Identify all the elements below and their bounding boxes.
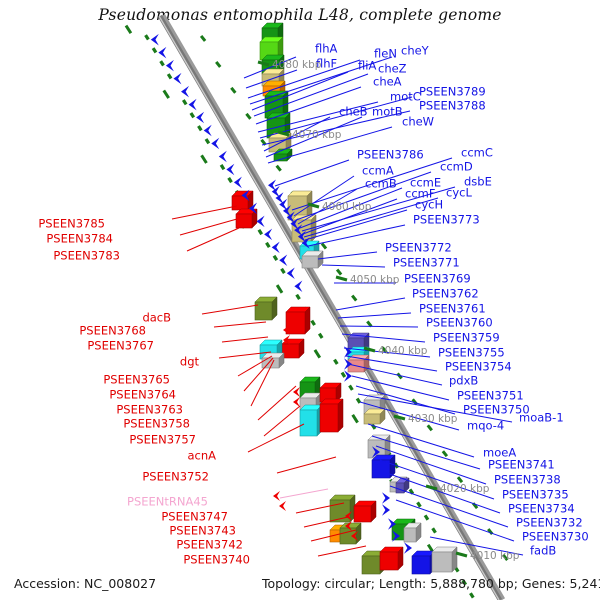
gene-arrow-blue[interactable] [151, 34, 159, 46]
gene-label[interactable]: PSEEN3730 [522, 530, 589, 544]
tickmark-dash [216, 62, 220, 67]
gene-label[interactable]: dgt [180, 355, 200, 369]
gene-arrow-red[interactable] [293, 387, 300, 397]
gene-glyph[interactable] [232, 191, 253, 210]
gene-glyph-face [354, 506, 371, 522]
gene-arrow-blue[interactable] [257, 216, 265, 228]
gene-label[interactable]: ccmA [362, 164, 394, 178]
left-label-group[interactable]: PSEEN3785PSEEN3784PSEEN3783dacBPSEEN3768… [38, 217, 250, 567]
label-leader-line [214, 322, 266, 327]
gene-label[interactable]: PSEEN3761 [419, 302, 486, 316]
gene-label[interactable]: fleN [374, 47, 397, 61]
gene-label[interactable]: PSEEN3751 [457, 389, 524, 403]
gene-glyph[interactable] [354, 501, 376, 522]
gene-arrow-blue[interactable] [158, 47, 166, 59]
tickmark-dash [277, 285, 282, 293]
gene-arrow-blue[interactable] [279, 255, 287, 267]
axis-tick-label: 4050 kbp [350, 274, 400, 286]
label-leader-line [338, 313, 411, 318]
tickmark-dash [322, 244, 326, 249]
gene-arrow-red[interactable] [293, 397, 300, 407]
gene-label[interactable]: PSEEN3743 [169, 524, 236, 538]
axis-tick-dash [456, 553, 467, 556]
tickmark-dash [337, 270, 341, 275]
label-leader-line [244, 358, 273, 391]
tickmark-dash [126, 26, 131, 34]
gene-label[interactable]: dacB [142, 311, 171, 325]
tickmark-dash [350, 386, 353, 390]
gene-label[interactable]: PSEEN3771 [393, 256, 460, 270]
gene-glyph[interactable] [404, 523, 421, 542]
gene-label[interactable]: flhA [315, 42, 338, 56]
label-leader-line [202, 305, 258, 314]
gene-label[interactable]: PSEEN3764 [109, 388, 176, 402]
gene-label[interactable]: PSEEN3788 [419, 99, 486, 113]
tickmark-dash [161, 61, 164, 65]
gene-glyph-face [380, 552, 398, 570]
gene-arrow-red[interactable] [279, 501, 286, 511]
label-leader-line [222, 337, 268, 342]
gene-label[interactable]: cheZ [378, 62, 407, 76]
gene-glyph[interactable] [302, 251, 323, 268]
tickmark-dash [183, 100, 186, 104]
gene-label[interactable]: cycL [446, 186, 472, 200]
gene-label[interactable]: PSEEN3740 [183, 553, 250, 567]
gene-label[interactable]: PSEEN3754 [445, 360, 512, 374]
tickmark-dash [458, 477, 462, 482]
genome-map-canvas[interactable]: Pseudomonas entomophila L48, complete ge… [0, 0, 600, 600]
tickmark-dash [367, 321, 371, 326]
gene-label[interactable]: PSEEN3741 [488, 458, 555, 472]
tickmark-dash [334, 360, 337, 364]
gene-arrow-blue[interactable] [204, 125, 212, 137]
gene-arrow-blue[interactable] [382, 492, 390, 504]
gene-label[interactable]: cheA [373, 75, 402, 89]
gene-label[interactable]: cheY [401, 44, 430, 58]
gene-glyph[interactable] [432, 547, 457, 572]
tickmark-dash [282, 269, 285, 273]
gene-label[interactable]: cheW [402, 115, 434, 129]
tickmark-dash [443, 451, 447, 456]
gene-label[interactable]: PSEEN3760 [426, 316, 493, 330]
gene-glyph-face [364, 414, 380, 424]
axis-tick-label: 4040 kbp [378, 345, 428, 357]
tickmark-dash [418, 502, 421, 506]
gene-arrow-blue[interactable] [166, 60, 174, 72]
gene-label[interactable]: PSEEN3783 [53, 249, 120, 263]
accession-text: Accession: NC_008027 [14, 576, 156, 591]
gene-arrow-blue[interactable] [404, 542, 412, 554]
tickmark-dash [425, 515, 428, 519]
tickmark-dash [428, 425, 432, 430]
gene-glyph-face [300, 410, 317, 436]
gene-label[interactable]: PSEEN3734 [508, 502, 575, 516]
gene-glyph[interactable] [320, 399, 343, 432]
gene-label[interactable]: PSEEN3773 [413, 213, 480, 227]
gene-label[interactable]: PSEEN3768 [79, 324, 146, 338]
gene-label[interactable]: cheB [339, 105, 368, 119]
gene-glyph[interactable] [286, 307, 310, 334]
gene-glyph[interactable] [380, 547, 403, 570]
gene-arrow-blue[interactable] [272, 242, 280, 254]
axis-tick-label: 4020 kbp [440, 483, 490, 495]
gene-label[interactable]: motB [372, 105, 403, 119]
label-leader-line [318, 546, 366, 556]
gene-label[interactable]: cycH [415, 198, 443, 212]
tickmark-dash [164, 90, 169, 98]
tickmark-dash [315, 350, 320, 358]
tickmark-dash [229, 178, 232, 182]
tickmark-dash [266, 243, 269, 247]
gene-glyph[interactable] [412, 551, 435, 574]
tickmark-dash [433, 528, 436, 532]
tickmark-dash [202, 155, 207, 163]
gene-label[interactable]: PSEEN3785 [38, 217, 105, 231]
axis-tick-label: 4030 kbp [408, 413, 458, 425]
tickmark-dash [319, 334, 322, 338]
label-leader-line [172, 206, 237, 219]
gene-label[interactable]: PSEEN3732 [516, 516, 583, 530]
tickmark-dash [153, 48, 156, 52]
gene-label[interactable]: PSEEN3758 [123, 417, 190, 431]
gene-label[interactable]: PSEEN3755 [438, 346, 505, 360]
tickmark-dash [259, 230, 262, 234]
gene-label[interactable]: PSEEN3786 [357, 148, 424, 162]
tickmark-dash [312, 321, 315, 325]
gene-glyph-face [412, 556, 430, 574]
gene-label[interactable]: PSEEN3784 [46, 232, 113, 246]
gene-label[interactable]: PSEEN3769 [404, 272, 471, 286]
tickmark-dash [191, 113, 194, 117]
gene-label[interactable]: PSEEN3735 [502, 488, 569, 502]
label-leader-line [275, 160, 349, 186]
gene-arrow-blue[interactable] [264, 229, 272, 241]
axis-tick-label: 4010 kbp [470, 550, 520, 562]
label-leader-line [258, 386, 296, 420]
axis-tick-label: 4080 kbp [272, 59, 322, 71]
gene-glyph[interactable] [364, 409, 385, 424]
gene-label[interactable]: PSEEN3759 [433, 331, 500, 345]
gene-glyph-face [286, 312, 305, 334]
axis-tick-label: 4060 kbp [322, 201, 372, 213]
gene-label[interactable]: acnA [187, 449, 216, 463]
gene-arrow-blue[interactable] [268, 179, 276, 191]
label-leader-line [352, 376, 449, 400]
topology-text: Topology: circular; Length: 5,888,780 bp… [262, 576, 600, 591]
gene-arrow-blue[interactable] [181, 86, 189, 98]
tickmark-dash [246, 114, 250, 119]
status-bar: Accession: NC_008027 Topology: circular;… [0, 576, 600, 594]
tickmark-dash [231, 88, 235, 93]
label-leader-line [340, 326, 418, 327]
tickmark-dash [168, 74, 171, 78]
gene-arrow-blue[interactable] [226, 164, 234, 176]
gene-glyph[interactable] [255, 297, 277, 320]
gene-arrow-blue[interactable] [382, 504, 390, 516]
gene-glyph[interactable] [300, 405, 322, 436]
tickmark-dash [206, 139, 209, 143]
tickmark-dash [277, 166, 281, 171]
gene-label[interactable]: fliA [358, 59, 376, 73]
gene-glyph-face [404, 528, 416, 542]
gene-label[interactable]: PSEEN3763 [116, 403, 183, 417]
gene-label[interactable]: moaB-1 [519, 411, 564, 425]
gene-glyph-face [320, 404, 338, 432]
label-leader-line [277, 457, 336, 473]
label-leader-line [280, 489, 328, 498]
gene-arrow-red[interactable] [273, 491, 280, 501]
tickmark-dash [221, 165, 224, 169]
gene-label[interactable]: PSEEN3772 [385, 241, 452, 255]
gene-label[interactable]: PSEEN3762 [412, 287, 479, 301]
axis-tick-dash [336, 277, 347, 280]
label-leader-line [187, 228, 239, 251]
gene-arrow-blue[interactable] [196, 112, 204, 124]
gene-label[interactable]: motC [390, 90, 421, 104]
axis-tick-label: 4070 kbp [292, 129, 342, 141]
tickmark-dash [357, 399, 360, 403]
gene-arrow-blue[interactable] [211, 138, 219, 150]
tickmark-dash [297, 295, 300, 299]
gene-arrow-blue[interactable] [173, 73, 181, 85]
gene-label[interactable]: PSEEN3742 [176, 538, 243, 552]
tickmark-dash [198, 126, 201, 130]
label-leader-line [348, 364, 442, 385]
gene-label[interactable]: ccmC [461, 146, 493, 160]
gene-label[interactable]: fadB [530, 544, 556, 558]
gene-glyph-face [432, 552, 452, 572]
gene-arrow-blue[interactable] [234, 177, 242, 189]
label-leader-line [336, 298, 405, 310]
gene-label[interactable]: PSEEN3752 [142, 470, 209, 484]
gene-arrow-blue[interactable] [294, 280, 302, 292]
gene-glyph-side [305, 307, 310, 334]
gene-label[interactable]: PSEEN3767 [87, 339, 154, 353]
tickmark-dash [353, 415, 358, 423]
gene-glyph-face [362, 556, 380, 574]
label-leader-line [248, 424, 304, 452]
gene-label[interactable]: PSEEN3747 [161, 510, 228, 524]
gene-label[interactable]: ccmB [365, 177, 397, 191]
gene-label[interactable]: mqo-4 [467, 419, 504, 433]
gene-glyph-face [236, 214, 252, 228]
label-leader-line [318, 252, 377, 259]
gene-arrow-blue[interactable] [189, 99, 197, 111]
gene-label[interactable]: PSEEN3789 [419, 85, 486, 99]
gene-label[interactable]: PSEEN3757 [129, 433, 196, 447]
gene-arrow-blue[interactable] [287, 268, 295, 280]
gene-label[interactable]: pdxB [449, 374, 478, 388]
gene-glyph-side [338, 399, 343, 432]
label-leader-line [264, 406, 300, 436]
gene-glyph-face [302, 256, 318, 268]
tickmark-dash [342, 373, 345, 377]
tickmark-dash [146, 35, 149, 39]
tickmark-dash [274, 256, 277, 260]
gene-label[interactable]: PSEEN3765 [103, 373, 170, 387]
gene-glyph-face [274, 154, 287, 161]
gene-label[interactable]: ccmD [440, 160, 473, 174]
tickmark-dash [352, 296, 356, 301]
gene-label[interactable]: PSEEN3738 [494, 473, 561, 487]
gene-label[interactable]: PSEENtRNA45 [127, 495, 208, 509]
genome-map-svg[interactable]: flhAflhFfleNcheYfliAcheZcheAmotCPSEEN378… [0, 0, 600, 600]
tickmark-dash [201, 36, 205, 41]
label-leader-line [322, 265, 385, 267]
gene-arrow-blue[interactable] [219, 151, 227, 163]
